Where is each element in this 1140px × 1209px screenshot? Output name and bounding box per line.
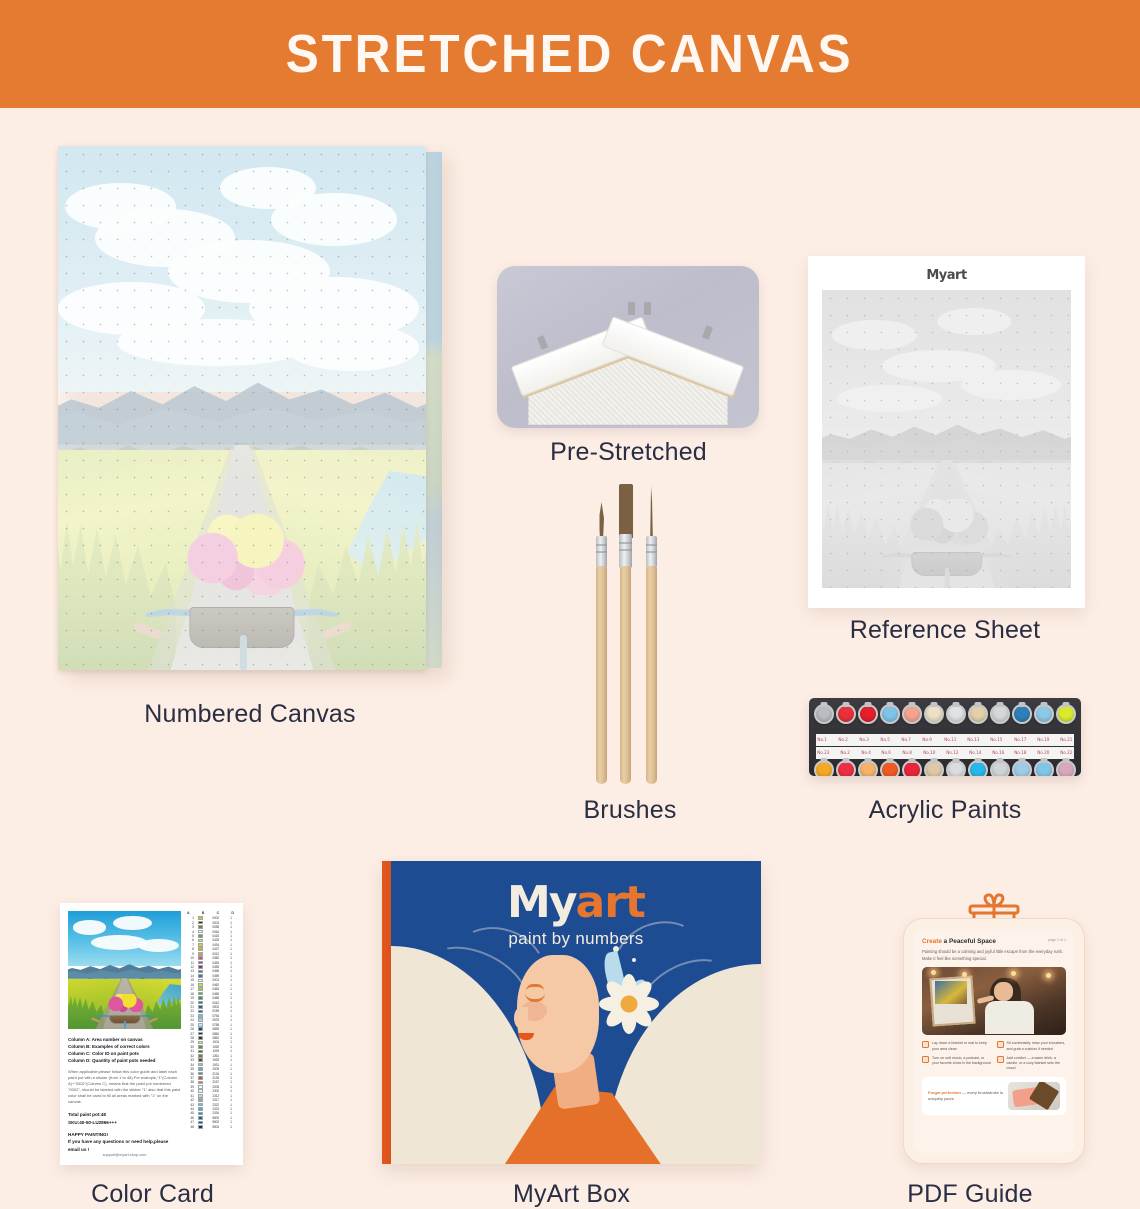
pdf-title-accent: Create bbox=[922, 938, 942, 945]
pdf-tip-text: Lay down a blanket or mat to keep your a… bbox=[932, 1041, 992, 1051]
page-title: STRETCHED CANVAS bbox=[286, 23, 854, 85]
product-pdf-guide[interactable]: page 1 of 1 Create a Peaceful Space Pain… bbox=[0, 108, 1140, 1140]
tip-bullet-icon bbox=[922, 1041, 929, 1048]
pdf-page: page 1 of 1 Create a Peaceful Space Pain… bbox=[913, 929, 1075, 1153]
pdf-title: Create a Peaceful Space bbox=[922, 938, 1066, 945]
string-light bbox=[962, 972, 967, 977]
tip-bullet-icon bbox=[922, 1056, 929, 1063]
support-email: support@myart-shop.com bbox=[68, 1153, 181, 1157]
pdf-page-number: page 1 of 1 bbox=[1048, 938, 1066, 942]
pdf-tip-text: Sit comfortably, relax your shoulders, a… bbox=[1007, 1041, 1067, 1051]
pdf-tip-text: Turn on soft music, a podcast, or your f… bbox=[932, 1056, 992, 1072]
caption-pdf-guide: PDF Guide bbox=[845, 1180, 1095, 1209]
pdf-footer-text: Forget perfection — every brushstroke is… bbox=[928, 1090, 1003, 1102]
pdf-photo bbox=[922, 967, 1066, 1035]
woman-face bbox=[994, 982, 1013, 1001]
pdf-guide-image: page 1 of 1 Create a Peaceful Space Pain… bbox=[903, 918, 1085, 1164]
caption-color-card: Color Card bbox=[25, 1180, 280, 1209]
tip-bullet-icon bbox=[997, 1041, 1004, 1048]
help-text: If you have any questions or need help,p… bbox=[68, 1138, 181, 1153]
pdf-tip: Add comfort — a warm drink, a candle, or… bbox=[997, 1056, 1067, 1072]
pdf-tip: Sit comfortably, relax your shoulders, a… bbox=[997, 1041, 1067, 1051]
pdf-footer-note: Forget perfection — every brushstroke is… bbox=[922, 1077, 1066, 1115]
string-light bbox=[1046, 973, 1051, 978]
pdf-tip-text: Add comfort — a warm drink, a candle, or… bbox=[1007, 1056, 1067, 1072]
painting-on-easel bbox=[935, 981, 967, 1004]
pdf-footer-image bbox=[1008, 1082, 1060, 1110]
pdf-subtitle: Painting should be a calming and joyful … bbox=[922, 949, 1066, 962]
page-header: STRETCHED CANVAS bbox=[0, 0, 1140, 108]
tip-bullet-icon bbox=[997, 1056, 1004, 1063]
product-grid: Numbered Canvas Pre-Stretched Myart bbox=[0, 108, 1140, 1140]
pdf-tip: Lay down a blanket or mat to keep your a… bbox=[922, 1041, 992, 1051]
pdf-title-rest: a Peaceful Space bbox=[942, 938, 996, 945]
pdf-footer-accent: Forget perfection bbox=[928, 1090, 961, 1095]
string-light bbox=[931, 970, 936, 975]
pdf-tips-grid: Lay down a blanket or mat to keep your a… bbox=[922, 1041, 1066, 1071]
caption-myart-box: MyArt Box bbox=[420, 1180, 723, 1209]
string-light bbox=[1011, 971, 1016, 976]
woman-shirt bbox=[985, 1001, 1034, 1034]
pdf-tip: Turn on soft music, a podcast, or your f… bbox=[922, 1056, 992, 1072]
